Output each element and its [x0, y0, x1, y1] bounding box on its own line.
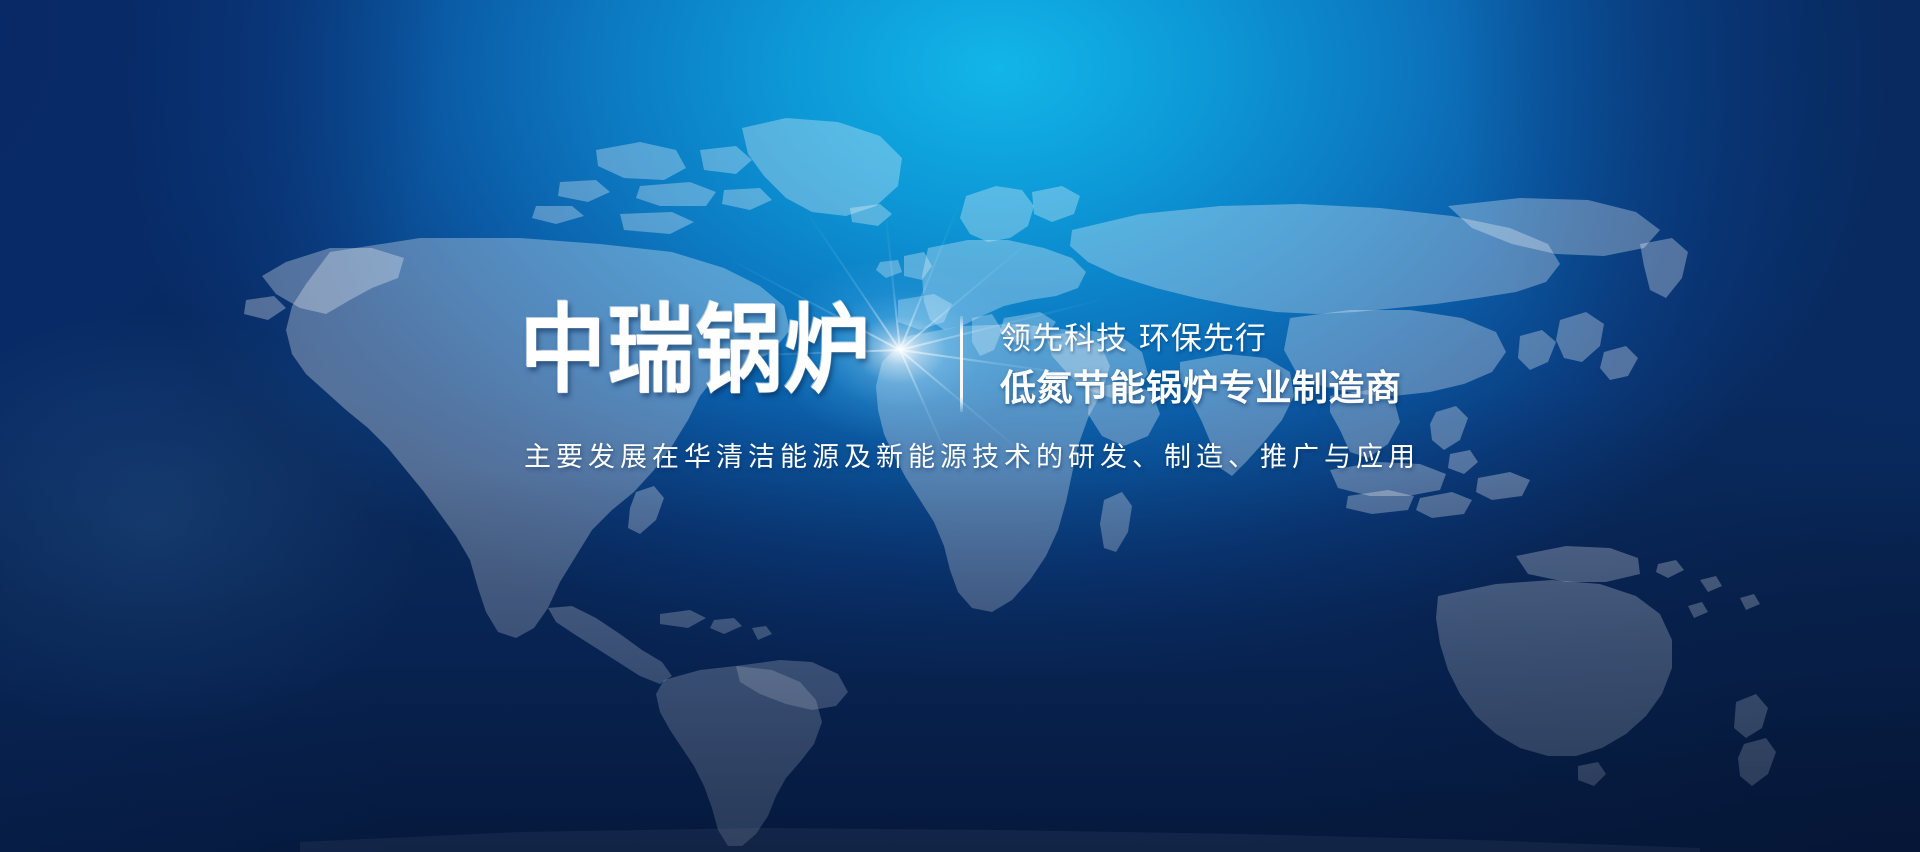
brand-logo-text: 中瑞锅炉: [520, 303, 872, 399]
vertical-divider: [960, 316, 963, 412]
brand-slogan-primary: 领先科技 环保先行: [1000, 320, 1267, 359]
hero-banner: 中瑞锅炉 领先科技 环保先行 低氮节能锅炉专业制造商 主要发展在华清洁能源及新能…: [0, 0, 1920, 852]
banner-content: 中瑞锅炉 领先科技 环保先行 低氮节能锅炉专业制造商 主要发展在华清洁能源及新能…: [0, 0, 1920, 852]
brand-slogan-secondary: 低氮节能锅炉专业制造商: [1000, 367, 1402, 410]
brand-tagline: 主要发展在华清洁能源及新能源技术的研发、制造、推广与应用: [524, 442, 1420, 474]
